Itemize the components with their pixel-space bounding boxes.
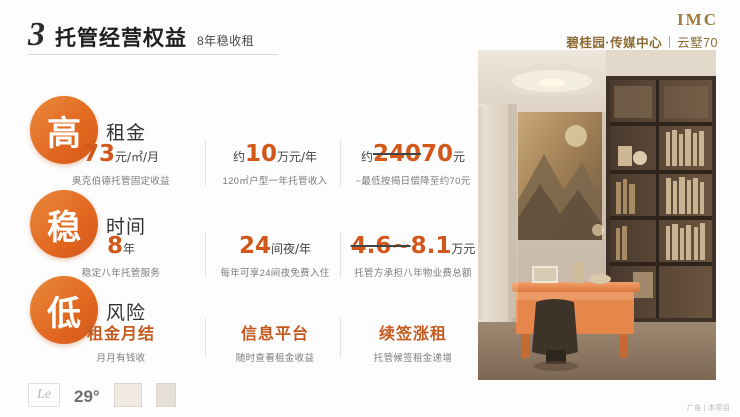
page-subtitle: 8年稳收租 — [197, 32, 254, 49]
page-footer: Le 29° — [28, 383, 176, 407]
brand-logo: IMC 碧桂园·传媒中心 云墅70 — [566, 10, 718, 51]
row2-divider-2 — [340, 232, 341, 278]
row2-cell3: 4.6~8.1万元 托管方承担八年物业费总额 — [338, 234, 488, 279]
row1-cell2-unit: 万元/年 — [277, 150, 317, 164]
footer-swatch-2 — [156, 383, 176, 407]
row3-cell3: 续签涨租 托管候签租金递增 — [338, 320, 488, 364]
row1-cell1-unit: 元/㎡/月 — [115, 150, 159, 164]
row1-cell2-value: 约10万元/年 — [200, 142, 350, 167]
page-title: 托管经营权益 — [55, 22, 187, 52]
logo-mark: IMC — [566, 10, 718, 30]
row1-cell2-caption: 120㎡户型一年托管收入 — [200, 173, 350, 187]
interior-photo-graphic — [478, 50, 716, 380]
slide-page: 3 托管经营权益 8年稳收租 IMC 碧桂园·传媒中心 云墅70 高 租金 73… — [0, 0, 740, 417]
row1-cell2: 约10万元/年 120㎡户型一年托管收入 — [200, 142, 350, 187]
row3-cell2: 信息平台 随时查看租金收益 — [200, 320, 350, 364]
row2-cell1-value: 8年 — [46, 234, 196, 259]
row2-cell3-caption: 托管方承担八年物业费总额 — [338, 265, 488, 279]
row2-cell1-unit: 年 — [123, 242, 135, 256]
row2-cell1: 8年 稳定八年托管服务 — [46, 234, 196, 279]
row1-cell3-unit: 元 — [453, 150, 465, 164]
page-header: 3 托管经营权益 8年稳收租 — [28, 18, 254, 52]
row3-cell1-caption: 月月有钱收 — [46, 350, 196, 364]
row1-cell1: 73元/㎡/月 奥克伯德托管固定收益 — [46, 142, 196, 187]
row3-cell1-value: 租金月结 — [46, 320, 196, 344]
header-number: 3 — [28, 18, 45, 52]
row3-divider-1 — [205, 318, 206, 358]
row1-cell2-prefix: 约 — [233, 150, 245, 164]
signature-stamp: Le — [28, 383, 60, 407]
row2-cell3-struck: 4.6~ — [351, 233, 411, 259]
row3-cell3-caption: 托管候签租金递增 — [338, 350, 488, 364]
logo-separator — [669, 36, 670, 48]
row3-cell1: 租金月结 月月有钱收 — [46, 320, 196, 364]
logo-main-text: 碧桂园·传媒中心 — [566, 32, 662, 51]
row2-cell2-caption: 每年可享24间夜免费入住 — [200, 265, 350, 279]
row2-cell3-unit: 万元 — [451, 242, 475, 256]
header-divider — [28, 54, 278, 55]
row3-cell2-value: 信息平台 — [200, 320, 350, 344]
row3-cell2-caption: 随时查看租金收益 — [200, 350, 350, 364]
row1-cell3-struck: 240 — [373, 141, 421, 167]
row1-cell3-prefix: 约 — [361, 150, 373, 164]
interior-photo — [478, 50, 716, 380]
row2-divider-1 — [205, 232, 206, 278]
row2-cell3-value: 4.6~8.1万元 — [338, 234, 488, 259]
disclaimer-text: 广告 | 本项目 — [687, 403, 730, 413]
row2-cell2-unit: 间夜/年 — [271, 242, 311, 256]
footer-swatch-1 — [114, 383, 142, 407]
logo-sub-text: 云墅70 — [677, 32, 718, 51]
row1-cell1-value: 73元/㎡/月 — [46, 142, 196, 167]
row1-cell3-value: 约24070元 — [338, 142, 488, 167]
row1-divider-2 — [340, 140, 341, 186]
row2-cell2: 24间夜/年 每年可享24间夜免费入住 — [200, 234, 350, 279]
row3-cell3-value: 续签涨租 — [338, 320, 488, 344]
row3-divider-2 — [340, 318, 341, 358]
row1-cell3-caption: ~最低按揭日偿降至约70元 — [338, 173, 488, 187]
row1-cell1-caption: 奥克伯德托管固定收益 — [46, 173, 196, 187]
row1-divider-1 — [205, 140, 206, 186]
temperature-label: 29° — [74, 387, 100, 407]
row2-cell2-value: 24间夜/年 — [200, 234, 350, 259]
row1-cell3: 约24070元 ~最低按揭日偿降至约70元 — [338, 142, 488, 187]
logo-text-row: 碧桂园·传媒中心 云墅70 — [566, 32, 718, 51]
